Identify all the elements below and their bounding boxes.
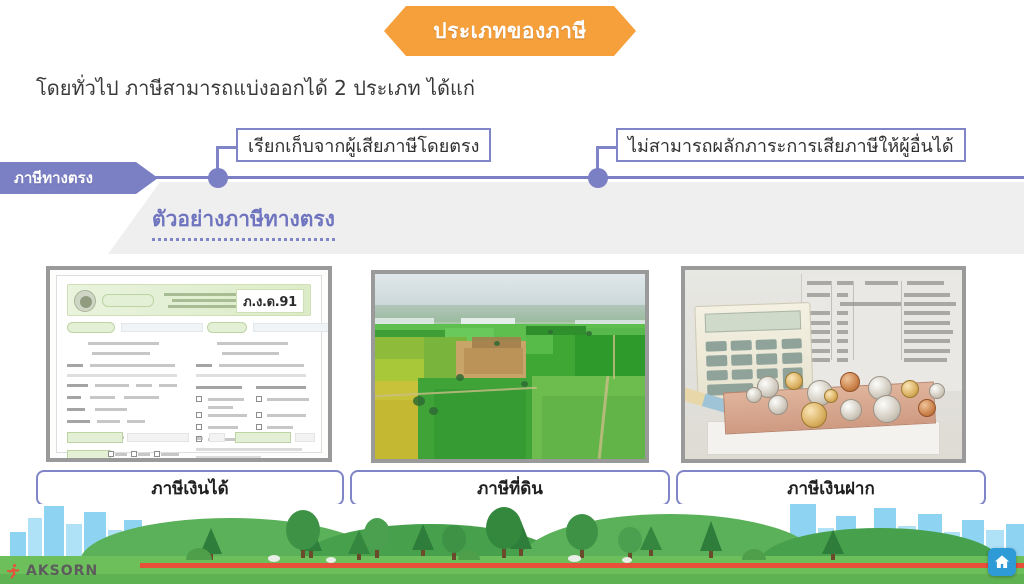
caption-land-tax: ภาษีที่ดิน (350, 470, 670, 506)
home-icon (993, 553, 1011, 571)
example-image-3 (681, 266, 966, 463)
caption-deposit-tax: ภาษีเงินฝาก (676, 470, 986, 506)
bank-passbook (801, 274, 962, 391)
connector-horizontal-1 (216, 146, 238, 149)
brand-logo: AKSORN (4, 562, 98, 580)
section-subtitle-text: ตัวอย่างภาษีทางตรง (152, 207, 335, 231)
callout-box-2: ไม่สามารถผลักภาระการเสียภาษีให้ผู้อื่นได… (616, 128, 966, 162)
subtitle-underline (152, 238, 335, 241)
callout-box-1: เรียกเก็บจากผู้เสียภาษีโดยตรง (236, 128, 491, 162)
callout-text-1: เรียกเก็บจากผู้เสียภาษีโดยตรง (248, 131, 479, 160)
example-image-2 (371, 270, 649, 463)
direct-tax-label-text: ภาษีทางตรง (0, 166, 93, 190)
caption-text-1: ภาษีเงินได้ (151, 475, 228, 502)
footer-accent-line (140, 563, 1024, 568)
header-banner: ประเภทของภาษี (384, 6, 636, 56)
intro-text: โดยทั่วไป ภาษีสามารถแบ่งออกได้ 2 ประเภท … (36, 72, 475, 104)
home-button[interactable] (988, 548, 1016, 576)
government-seal-icon (74, 290, 96, 312)
section-subtitle: ตัวอย่างภาษีทางตรง (152, 203, 335, 241)
timeline-dot-1 (208, 168, 228, 188)
caption-text-2: ภาษีที่ดิน (477, 475, 543, 502)
timeline-dot-2 (588, 168, 608, 188)
connector-horizontal-2 (596, 146, 618, 149)
form-code-label: ภ.ง.ด.91 (236, 289, 304, 313)
brand-name: AKSORN (26, 563, 98, 579)
slide-canvas: ประเภทของภาษี โดยทั่วไป ภาษีสามารถแบ่งออ… (0, 0, 1024, 584)
footer-scenery (0, 504, 1024, 584)
timeline-line (150, 176, 1024, 179)
example-image-1: ภ.ง.ด.91 (46, 266, 332, 462)
caption-text-3: ภาษีเงินฝาก (787, 475, 875, 502)
aksorn-runner-icon (4, 562, 22, 580)
callout-text-2: ไม่สามารถผลักภาระการเสียภาษีให้ผู้อื่นได… (628, 131, 954, 160)
direct-tax-label: ภาษีทางตรง (0, 162, 158, 194)
page-title: ประเภทของภาษี (433, 15, 586, 48)
caption-income-tax: ภาษีเงินได้ (36, 470, 344, 506)
